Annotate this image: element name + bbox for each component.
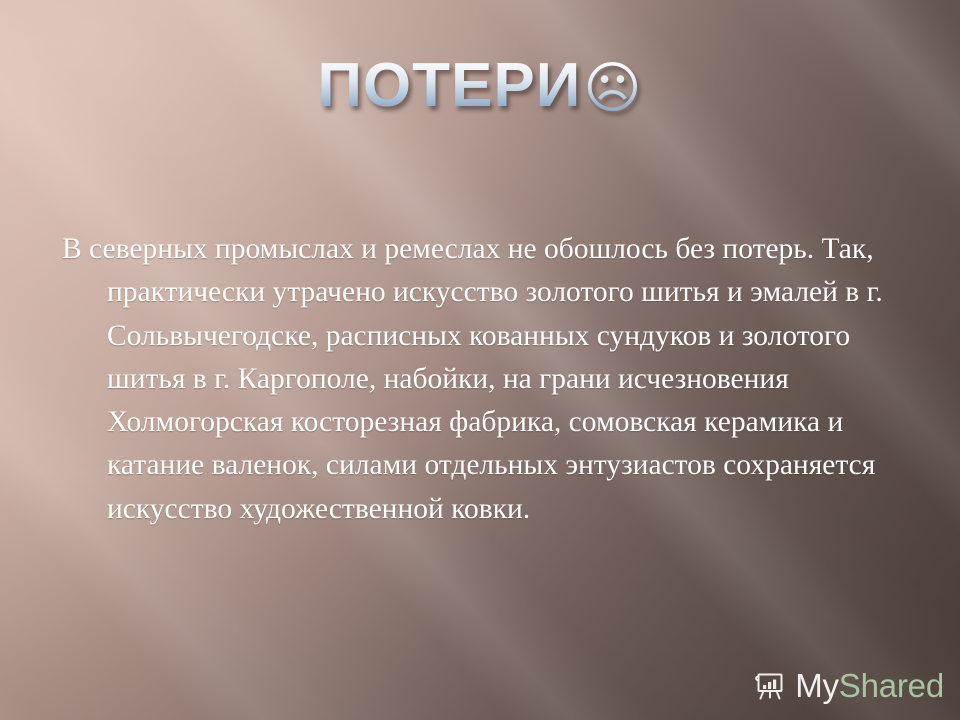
brand-shared: Shared <box>839 667 944 704</box>
frowning-face-icon: ☹ <box>583 60 642 116</box>
presentation-slide: ПОТЕРИ ☹ В северных промыслах и ремеслах… <box>0 0 960 720</box>
flipchart-bar-chart-icon <box>753 668 787 702</box>
myshared-watermark: MyShared <box>753 668 944 702</box>
myshared-brand: MyShared <box>795 669 944 702</box>
body-text-block: В северных промыслах и ремеслах не обошл… <box>62 228 898 531</box>
page-title: ПОТЕРИ <box>317 55 581 117</box>
slide-title: ПОТЕРИ ☹ <box>0 44 960 128</box>
body-paragraph: В северных промыслах и ремеслах не обошл… <box>62 228 898 531</box>
brand-my: My <box>795 667 839 704</box>
slide-content: ПОТЕРИ ☹ В северных промыслах и ремеслах… <box>0 0 960 720</box>
